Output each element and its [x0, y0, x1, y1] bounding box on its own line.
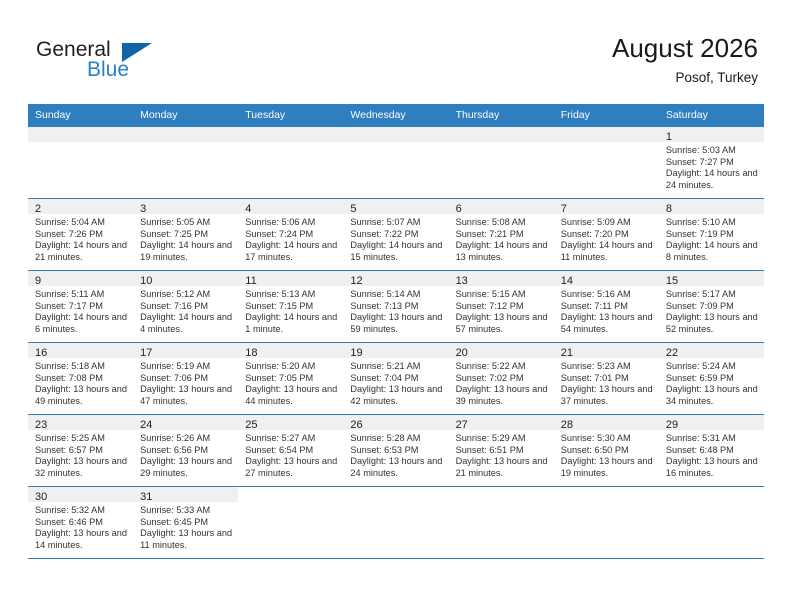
sunset-text: Sunset: 6:45 PM — [140, 517, 232, 529]
calendar-page: General Blue August 2026 Posof, Turkey S… — [0, 0, 792, 612]
calendar-day-number: 11 — [238, 271, 343, 286]
calendar-day-details: Sunrise: 5:06 AMSunset: 7:24 PMDaylight:… — [238, 214, 343, 263]
calendar-day-cell[interactable]: 5Sunrise: 5:07 AMSunset: 7:22 PMDaylight… — [343, 199, 448, 271]
sunrise-text: Sunrise: 5:10 AM — [666, 217, 758, 229]
calendar-day-details: Sunrise: 5:26 AMSunset: 6:56 PMDaylight:… — [133, 430, 238, 479]
calendar-day-details: Sunrise: 5:10 AMSunset: 7:19 PMDaylight:… — [659, 214, 764, 263]
sunset-text: Sunset: 6:59 PM — [666, 373, 758, 385]
calendar-cell-inner: 6Sunrise: 5:08 AMSunset: 7:21 PMDaylight… — [449, 199, 554, 270]
calendar-day-number: 13 — [449, 271, 554, 286]
calendar-day-number: 2 — [28, 199, 133, 214]
calendar-day-number: 17 — [133, 343, 238, 358]
calendar-day-number: 15 — [659, 271, 764, 286]
calendar-day-number: 27 — [449, 415, 554, 430]
calendar-day-cell[interactable]: 22Sunrise: 5:24 AMSunset: 6:59 PMDayligh… — [659, 343, 764, 415]
daylight-text: Daylight: 14 hours and 15 minutes. — [350, 240, 442, 263]
calendar-week-row: 2Sunrise: 5:04 AMSunset: 7:26 PMDaylight… — [28, 199, 764, 271]
daylight-text: Daylight: 13 hours and 24 minutes. — [350, 456, 442, 479]
daylight-text: Daylight: 14 hours and 17 minutes. — [245, 240, 337, 263]
sunrise-text: Sunrise: 5:03 AM — [666, 145, 758, 157]
calendar-day-details: Sunrise: 5:16 AMSunset: 7:11 PMDaylight:… — [554, 286, 659, 335]
daylight-text: Daylight: 14 hours and 13 minutes. — [456, 240, 548, 263]
sunset-text: Sunset: 7:15 PM — [245, 301, 337, 313]
sunrise-text: Sunrise: 5:31 AM — [666, 433, 758, 445]
daylight-text: Daylight: 13 hours and 11 minutes. — [140, 528, 232, 551]
calendar-day-cell[interactable]: 12Sunrise: 5:14 AMSunset: 7:13 PMDayligh… — [343, 271, 448, 343]
location-subtitle: Posof, Turkey — [612, 68, 758, 88]
calendar-day-number: 22 — [659, 343, 764, 358]
sunrise-text: Sunrise: 5:22 AM — [456, 361, 548, 373]
sunrise-text: Sunrise: 5:15 AM — [456, 289, 548, 301]
daylight-text: Daylight: 14 hours and 21 minutes. — [35, 240, 127, 263]
calendar-day-cell[interactable]: 17Sunrise: 5:19 AMSunset: 7:06 PMDayligh… — [133, 343, 238, 415]
calendar-day-details: Sunrise: 5:27 AMSunset: 6:54 PMDaylight:… — [238, 430, 343, 479]
calendar-day-details: Sunrise: 5:18 AMSunset: 7:08 PMDaylight:… — [28, 358, 133, 407]
sunrise-text: Sunrise: 5:19 AM — [140, 361, 232, 373]
sunset-text: Sunset: 6:50 PM — [561, 445, 653, 457]
daylight-text: Daylight: 13 hours and 19 minutes. — [561, 456, 653, 479]
calendar-cell-inner: 9Sunrise: 5:11 AMSunset: 7:17 PMDaylight… — [28, 271, 133, 342]
weekday-header-monday: Monday — [133, 104, 238, 127]
calendar-cell-inner: 19Sunrise: 5:21 AMSunset: 7:04 PMDayligh… — [343, 343, 448, 414]
daylight-text: Daylight: 13 hours and 16 minutes. — [666, 456, 758, 479]
daylight-text: Daylight: 13 hours and 42 minutes. — [350, 384, 442, 407]
sunrise-sunset-calendar: Sunday Monday Tuesday Wednesday Thursday… — [28, 104, 764, 559]
daylight-text: Daylight: 13 hours and 57 minutes. — [456, 312, 548, 335]
calendar-week-row: 23Sunrise: 5:25 AMSunset: 6:57 PMDayligh… — [28, 415, 764, 487]
calendar-cell-inner — [343, 127, 448, 198]
calendar-cell-inner: 29Sunrise: 5:31 AMSunset: 6:48 PMDayligh… — [659, 415, 764, 486]
daylight-text: Daylight: 14 hours and 1 minute. — [245, 312, 337, 335]
calendar-week-row: 9Sunrise: 5:11 AMSunset: 7:17 PMDaylight… — [28, 271, 764, 343]
daylight-text: Daylight: 14 hours and 24 minutes. — [666, 168, 758, 191]
sunrise-text: Sunrise: 5:17 AM — [666, 289, 758, 301]
calendar-cell-inner: 17Sunrise: 5:19 AMSunset: 7:06 PMDayligh… — [133, 343, 238, 414]
daylight-text: Daylight: 13 hours and 21 minutes. — [456, 456, 548, 479]
calendar-day-cell[interactable]: 13Sunrise: 5:15 AMSunset: 7:12 PMDayligh… — [449, 271, 554, 343]
calendar-day-details: Sunrise: 5:30 AMSunset: 6:50 PMDaylight:… — [554, 430, 659, 479]
calendar-day-details: Sunrise: 5:22 AMSunset: 7:02 PMDaylight:… — [449, 358, 554, 407]
calendar-cell-inner: 25Sunrise: 5:27 AMSunset: 6:54 PMDayligh… — [238, 415, 343, 486]
calendar-cell-inner: 5Sunrise: 5:07 AMSunset: 7:22 PMDaylight… — [343, 199, 448, 270]
calendar-cell-inner: 31Sunrise: 5:33 AMSunset: 6:45 PMDayligh… — [133, 487, 238, 558]
sunset-text: Sunset: 7:06 PM — [140, 373, 232, 385]
daylight-text: Daylight: 13 hours and 47 minutes. — [140, 384, 232, 407]
sunrise-text: Sunrise: 5:13 AM — [245, 289, 337, 301]
sunset-text: Sunset: 6:46 PM — [35, 517, 127, 529]
calendar-day-details: Sunrise: 5:25 AMSunset: 6:57 PMDaylight:… — [28, 430, 133, 479]
calendar-day-cell[interactable]: 3Sunrise: 5:05 AMSunset: 7:25 PMDaylight… — [133, 199, 238, 271]
calendar-day-cell[interactable]: 14Sunrise: 5:16 AMSunset: 7:11 PMDayligh… — [554, 271, 659, 343]
calendar-week-row: 1Sunrise: 5:03 AMSunset: 7:27 PMDaylight… — [28, 127, 764, 199]
daylight-text: Daylight: 13 hours and 59 minutes. — [350, 312, 442, 335]
general-blue-logo[interactable]: General Blue — [36, 38, 236, 92]
sunset-text: Sunset: 7:17 PM — [35, 301, 127, 313]
calendar-cell-empty — [554, 127, 659, 199]
weekday-header-friday: Friday — [554, 104, 659, 127]
sunset-text: Sunset: 7:08 PM — [35, 373, 127, 385]
sunrise-text: Sunrise: 5:23 AM — [561, 361, 653, 373]
calendar-day-cell[interactable]: 18Sunrise: 5:20 AMSunset: 7:05 PMDayligh… — [238, 343, 343, 415]
calendar-day-details: Sunrise: 5:12 AMSunset: 7:16 PMDaylight:… — [133, 286, 238, 335]
calendar-cell-inner: 24Sunrise: 5:26 AMSunset: 6:56 PMDayligh… — [133, 415, 238, 486]
calendar-day-cell[interactable]: 30Sunrise: 5:32 AMSunset: 6:46 PMDayligh… — [28, 487, 133, 559]
sunrise-text: Sunrise: 5:28 AM — [350, 433, 442, 445]
daylight-text: Daylight: 14 hours and 4 minutes. — [140, 312, 232, 335]
daylight-text: Daylight: 13 hours and 34 minutes. — [666, 384, 758, 407]
calendar-day-details: Sunrise: 5:24 AMSunset: 6:59 PMDaylight:… — [659, 358, 764, 407]
calendar-day-details: Sunrise: 5:23 AMSunset: 7:01 PMDaylight:… — [554, 358, 659, 407]
sunrise-text: Sunrise: 5:27 AM — [245, 433, 337, 445]
calendar-day-number-empty — [449, 127, 554, 142]
calendar-day-number: 1 — [659, 127, 764, 142]
calendar-day-number: 25 — [238, 415, 343, 430]
calendar-day-cell[interactable]: 9Sunrise: 5:11 AMSunset: 7:17 PMDaylight… — [28, 271, 133, 343]
sunrise-text: Sunrise: 5:11 AM — [35, 289, 127, 301]
calendar-body: 1Sunrise: 5:03 AMSunset: 7:27 PMDaylight… — [28, 127, 764, 559]
calendar-day-number: 29 — [659, 415, 764, 430]
daylight-text: Daylight: 13 hours and 29 minutes. — [140, 456, 232, 479]
sunrise-text: Sunrise: 5:14 AM — [350, 289, 442, 301]
calendar-cell-void — [343, 487, 448, 559]
calendar-cell-empty — [133, 127, 238, 199]
calendar-head: Sunday Monday Tuesday Wednesday Thursday… — [28, 104, 764, 127]
weekday-header-tuesday: Tuesday — [238, 104, 343, 127]
calendar-day-number: 4 — [238, 199, 343, 214]
sunset-text: Sunset: 7:20 PM — [561, 229, 653, 241]
page-title: August 2026 — [612, 32, 758, 64]
sunrise-text: Sunrise: 5:16 AM — [561, 289, 653, 301]
daylight-text: Daylight: 13 hours and 37 minutes. — [561, 384, 653, 407]
calendar-day-number: 8 — [659, 199, 764, 214]
daylight-text: Daylight: 14 hours and 8 minutes. — [666, 240, 758, 263]
calendar-day-number-empty — [133, 127, 238, 142]
calendar-day-number: 20 — [449, 343, 554, 358]
calendar-day-number-empty — [238, 127, 343, 142]
calendar-day-details: Sunrise: 5:17 AMSunset: 7:09 PMDaylight:… — [659, 286, 764, 335]
sunset-text: Sunset: 7:16 PM — [140, 301, 232, 313]
sunset-text: Sunset: 7:21 PM — [456, 229, 548, 241]
sunset-text: Sunset: 7:22 PM — [350, 229, 442, 241]
calendar-day-cell[interactable]: 20Sunrise: 5:22 AMSunset: 7:02 PMDayligh… — [449, 343, 554, 415]
calendar-day-cell[interactable]: 25Sunrise: 5:27 AMSunset: 6:54 PMDayligh… — [238, 415, 343, 487]
calendar-day-details: Sunrise: 5:08 AMSunset: 7:21 PMDaylight:… — [449, 214, 554, 263]
logo-text-blue: Blue — [87, 58, 129, 82]
sunset-text: Sunset: 7:12 PM — [456, 301, 548, 313]
daylight-text: Daylight: 13 hours and 32 minutes. — [35, 456, 127, 479]
calendar-day-number: 31 — [133, 487, 238, 502]
sunrise-text: Sunrise: 5:26 AM — [140, 433, 232, 445]
sunset-text: Sunset: 7:11 PM — [561, 301, 653, 313]
calendar-cell-inner — [28, 127, 133, 198]
calendar-cell-inner: 14Sunrise: 5:16 AMSunset: 7:11 PMDayligh… — [554, 271, 659, 342]
calendar-cell-void — [659, 487, 764, 559]
calendar-cell-inner: 13Sunrise: 5:15 AMSunset: 7:12 PMDayligh… — [449, 271, 554, 342]
sunset-text: Sunset: 7:02 PM — [456, 373, 548, 385]
calendar-day-number: 5 — [343, 199, 448, 214]
calendar-cell-inner: 26Sunrise: 5:28 AMSunset: 6:53 PMDayligh… — [343, 415, 448, 486]
sunrise-text: Sunrise: 5:06 AM — [245, 217, 337, 229]
calendar-day-cell[interactable]: 1Sunrise: 5:03 AMSunset: 7:27 PMDaylight… — [659, 127, 764, 199]
sunset-text: Sunset: 6:53 PM — [350, 445, 442, 457]
daylight-text: Daylight: 14 hours and 6 minutes. — [35, 312, 127, 335]
calendar-day-details: Sunrise: 5:28 AMSunset: 6:53 PMDaylight:… — [343, 430, 448, 479]
calendar-cell-inner: 3Sunrise: 5:05 AMSunset: 7:25 PMDaylight… — [133, 199, 238, 270]
calendar-cell-inner: 1Sunrise: 5:03 AMSunset: 7:27 PMDaylight… — [659, 127, 764, 198]
sunrise-text: Sunrise: 5:04 AM — [35, 217, 127, 229]
calendar-day-number-empty — [554, 127, 659, 142]
calendar-cell-inner: 28Sunrise: 5:30 AMSunset: 6:50 PMDayligh… — [554, 415, 659, 486]
calendar-cell-inner — [554, 127, 659, 198]
sunset-text: Sunset: 6:57 PM — [35, 445, 127, 457]
daylight-text: Daylight: 13 hours and 44 minutes. — [245, 384, 337, 407]
calendar-day-details: Sunrise: 5:14 AMSunset: 7:13 PMDaylight:… — [343, 286, 448, 335]
calendar-day-number: 7 — [554, 199, 659, 214]
calendar-day-details: Sunrise: 5:31 AMSunset: 6:48 PMDaylight:… — [659, 430, 764, 479]
calendar-day-details: Sunrise: 5:13 AMSunset: 7:15 PMDaylight:… — [238, 286, 343, 335]
sunrise-text: Sunrise: 5:07 AM — [350, 217, 442, 229]
title-block: August 2026 Posof, Turkey — [612, 32, 758, 88]
calendar-day-details: Sunrise: 5:33 AMSunset: 6:45 PMDaylight:… — [133, 502, 238, 551]
sunset-text: Sunset: 7:09 PM — [666, 301, 758, 313]
calendar-cell-void — [449, 487, 554, 559]
calendar-cell-void — [238, 487, 343, 559]
calendar-day-number: 16 — [28, 343, 133, 358]
daylight-text: Daylight: 13 hours and 49 minutes. — [35, 384, 127, 407]
sunrise-text: Sunrise: 5:29 AM — [456, 433, 548, 445]
weekday-header-wednesday: Wednesday — [343, 104, 448, 127]
calendar-day-details: Sunrise: 5:11 AMSunset: 7:17 PMDaylight:… — [28, 286, 133, 335]
calendar-day-details: Sunrise: 5:15 AMSunset: 7:12 PMDaylight:… — [449, 286, 554, 335]
calendar-day-number: 30 — [28, 487, 133, 502]
sunset-text: Sunset: 7:26 PM — [35, 229, 127, 241]
calendar-cell-inner: 8Sunrise: 5:10 AMSunset: 7:19 PMDaylight… — [659, 199, 764, 270]
calendar-cell-inner — [238, 127, 343, 198]
sunset-text: Sunset: 7:25 PM — [140, 229, 232, 241]
calendar-day-details: Sunrise: 5:04 AMSunset: 7:26 PMDaylight:… — [28, 214, 133, 263]
calendar-day-number-empty — [28, 127, 133, 142]
calendar-day-cell[interactable]: 26Sunrise: 5:28 AMSunset: 6:53 PMDayligh… — [343, 415, 448, 487]
calendar-week-row: 30Sunrise: 5:32 AMSunset: 6:46 PMDayligh… — [28, 487, 764, 559]
sunrise-text: Sunrise: 5:18 AM — [35, 361, 127, 373]
calendar-day-details: Sunrise: 5:19 AMSunset: 7:06 PMDaylight:… — [133, 358, 238, 407]
calendar-day-number: 3 — [133, 199, 238, 214]
calendar-cell-inner: 4Sunrise: 5:06 AMSunset: 7:24 PMDaylight… — [238, 199, 343, 270]
calendar-cell-inner: 22Sunrise: 5:24 AMSunset: 6:59 PMDayligh… — [659, 343, 764, 414]
calendar-cell-inner: 18Sunrise: 5:20 AMSunset: 7:05 PMDayligh… — [238, 343, 343, 414]
calendar-day-cell[interactable]: 4Sunrise: 5:06 AMSunset: 7:24 PMDaylight… — [238, 199, 343, 271]
sunset-text: Sunset: 6:48 PM — [666, 445, 758, 457]
calendar-cell-inner: 2Sunrise: 5:04 AMSunset: 7:26 PMDaylight… — [28, 199, 133, 270]
daylight-text: Daylight: 13 hours and 39 minutes. — [456, 384, 548, 407]
calendar-day-cell[interactable]: 23Sunrise: 5:25 AMSunset: 6:57 PMDayligh… — [28, 415, 133, 487]
calendar-cell-inner: 11Sunrise: 5:13 AMSunset: 7:15 PMDayligh… — [238, 271, 343, 342]
calendar-day-cell[interactable]: 19Sunrise: 5:21 AMSunset: 7:04 PMDayligh… — [343, 343, 448, 415]
sunset-text: Sunset: 6:51 PM — [456, 445, 548, 457]
calendar-day-number: 6 — [449, 199, 554, 214]
weekday-header-saturday: Saturday — [659, 104, 764, 127]
sunset-text: Sunset: 7:01 PM — [561, 373, 653, 385]
sunrise-text: Sunrise: 5:25 AM — [35, 433, 127, 445]
calendar-day-cell[interactable]: 28Sunrise: 5:30 AMSunset: 6:50 PMDayligh… — [554, 415, 659, 487]
sunrise-text: Sunrise: 5:20 AM — [245, 361, 337, 373]
sunset-text: Sunset: 7:19 PM — [666, 229, 758, 241]
daylight-text: Daylight: 13 hours and 27 minutes. — [245, 456, 337, 479]
calendar-cell-inner — [133, 127, 238, 198]
calendar-cell-inner: 23Sunrise: 5:25 AMSunset: 6:57 PMDayligh… — [28, 415, 133, 486]
calendar-day-number: 12 — [343, 271, 448, 286]
calendar-cell-empty — [343, 127, 448, 199]
sunset-text: Sunset: 6:54 PM — [245, 445, 337, 457]
calendar-day-number: 28 — [554, 415, 659, 430]
calendar-day-number: 18 — [238, 343, 343, 358]
calendar-cell-inner — [449, 127, 554, 198]
sunrise-text: Sunrise: 5:33 AM — [140, 505, 232, 517]
calendar-cell-inner: 10Sunrise: 5:12 AMSunset: 7:16 PMDayligh… — [133, 271, 238, 342]
calendar-day-cell[interactable]: 6Sunrise: 5:08 AMSunset: 7:21 PMDaylight… — [449, 199, 554, 271]
daylight-text: Daylight: 13 hours and 14 minutes. — [35, 528, 127, 551]
calendar-week-row: 16Sunrise: 5:18 AMSunset: 7:08 PMDayligh… — [28, 343, 764, 415]
daylight-text: Daylight: 14 hours and 19 minutes. — [140, 240, 232, 263]
daylight-text: Daylight: 13 hours and 52 minutes. — [666, 312, 758, 335]
sunset-text: Sunset: 6:56 PM — [140, 445, 232, 457]
calendar-day-number: 23 — [28, 415, 133, 430]
calendar-day-cell[interactable]: 27Sunrise: 5:29 AMSunset: 6:51 PMDayligh… — [449, 415, 554, 487]
sunrise-text: Sunrise: 5:05 AM — [140, 217, 232, 229]
weekday-header-row: Sunday Monday Tuesday Wednesday Thursday… — [28, 104, 764, 127]
calendar-day-number: 21 — [554, 343, 659, 358]
sunrise-text: Sunrise: 5:24 AM — [666, 361, 758, 373]
calendar-day-number: 10 — [133, 271, 238, 286]
sunrise-text: Sunrise: 5:09 AM — [561, 217, 653, 229]
sunrise-text: Sunrise: 5:08 AM — [456, 217, 548, 229]
calendar-day-details: Sunrise: 5:32 AMSunset: 6:46 PMDaylight:… — [28, 502, 133, 551]
daylight-text: Daylight: 13 hours and 54 minutes. — [561, 312, 653, 335]
calendar-cell-inner: 21Sunrise: 5:23 AMSunset: 7:01 PMDayligh… — [554, 343, 659, 414]
calendar-cell-inner: 30Sunrise: 5:32 AMSunset: 6:46 PMDayligh… — [28, 487, 133, 558]
calendar-day-cell[interactable]: 21Sunrise: 5:23 AMSunset: 7:01 PMDayligh… — [554, 343, 659, 415]
calendar-day-cell[interactable]: 2Sunrise: 5:04 AMSunset: 7:26 PMDaylight… — [28, 199, 133, 271]
calendar-cell-empty — [28, 127, 133, 199]
calendar-day-details: Sunrise: 5:07 AMSunset: 7:22 PMDaylight:… — [343, 214, 448, 263]
calendar-day-cell[interactable]: 16Sunrise: 5:18 AMSunset: 7:08 PMDayligh… — [28, 343, 133, 415]
calendar-day-details: Sunrise: 5:09 AMSunset: 7:20 PMDaylight:… — [554, 214, 659, 263]
calendar-cell-inner: 16Sunrise: 5:18 AMSunset: 7:08 PMDayligh… — [28, 343, 133, 414]
calendar-day-details: Sunrise: 5:21 AMSunset: 7:04 PMDaylight:… — [343, 358, 448, 407]
calendar-cell-inner: 20Sunrise: 5:22 AMSunset: 7:02 PMDayligh… — [449, 343, 554, 414]
calendar-day-cell[interactable]: 10Sunrise: 5:12 AMSunset: 7:16 PMDayligh… — [133, 271, 238, 343]
sunrise-text: Sunrise: 5:12 AM — [140, 289, 232, 301]
weekday-header-sunday: Sunday — [28, 104, 133, 127]
weekday-header-thursday: Thursday — [449, 104, 554, 127]
calendar-cell-inner: 7Sunrise: 5:09 AMSunset: 7:20 PMDaylight… — [554, 199, 659, 270]
sunrise-text: Sunrise: 5:30 AM — [561, 433, 653, 445]
calendar-day-number: 9 — [28, 271, 133, 286]
sunset-text: Sunset: 7:13 PM — [350, 301, 442, 313]
sunrise-text: Sunrise: 5:21 AM — [350, 361, 442, 373]
calendar-day-cell[interactable]: 7Sunrise: 5:09 AMSunset: 7:20 PMDaylight… — [554, 199, 659, 271]
calendar-cell-inner: 12Sunrise: 5:14 AMSunset: 7:13 PMDayligh… — [343, 271, 448, 342]
daylight-text: Daylight: 14 hours and 11 minutes. — [561, 240, 653, 263]
sunset-text: Sunset: 7:24 PM — [245, 229, 337, 241]
sunset-text: Sunset: 7:27 PM — [666, 157, 758, 169]
calendar-day-cell[interactable]: 29Sunrise: 5:31 AMSunset: 6:48 PMDayligh… — [659, 415, 764, 487]
calendar-day-details: Sunrise: 5:29 AMSunset: 6:51 PMDaylight:… — [449, 430, 554, 479]
sunset-text: Sunset: 7:05 PM — [245, 373, 337, 385]
calendar-cell-void — [554, 487, 659, 559]
calendar-day-details: Sunrise: 5:03 AMSunset: 7:27 PMDaylight:… — [659, 142, 764, 191]
calendar-day-number: 24 — [133, 415, 238, 430]
sunrise-text: Sunrise: 5:32 AM — [35, 505, 127, 517]
calendar-day-cell[interactable]: 11Sunrise: 5:13 AMSunset: 7:15 PMDayligh… — [238, 271, 343, 343]
calendar-cell-inner: 15Sunrise: 5:17 AMSunset: 7:09 PMDayligh… — [659, 271, 764, 342]
calendar-day-cell[interactable]: 24Sunrise: 5:26 AMSunset: 6:56 PMDayligh… — [133, 415, 238, 487]
calendar-day-cell[interactable]: 31Sunrise: 5:33 AMSunset: 6:45 PMDayligh… — [133, 487, 238, 559]
calendar-day-number: 14 — [554, 271, 659, 286]
calendar-cell-empty — [449, 127, 554, 199]
calendar-day-details: Sunrise: 5:05 AMSunset: 7:25 PMDaylight:… — [133, 214, 238, 263]
sunset-text: Sunset: 7:04 PM — [350, 373, 442, 385]
calendar-cell-inner: 27Sunrise: 5:29 AMSunset: 6:51 PMDayligh… — [449, 415, 554, 486]
calendar-day-cell[interactable]: 15Sunrise: 5:17 AMSunset: 7:09 PMDayligh… — [659, 271, 764, 343]
calendar-day-number-empty — [343, 127, 448, 142]
calendar-day-cell[interactable]: 8Sunrise: 5:10 AMSunset: 7:19 PMDaylight… — [659, 199, 764, 271]
calendar-cell-empty — [238, 127, 343, 199]
calendar-day-number: 19 — [343, 343, 448, 358]
calendar-day-details: Sunrise: 5:20 AMSunset: 7:05 PMDaylight:… — [238, 358, 343, 407]
page-header: General Blue August 2026 Posof, Turkey — [0, 0, 792, 103]
calendar-day-number: 26 — [343, 415, 448, 430]
